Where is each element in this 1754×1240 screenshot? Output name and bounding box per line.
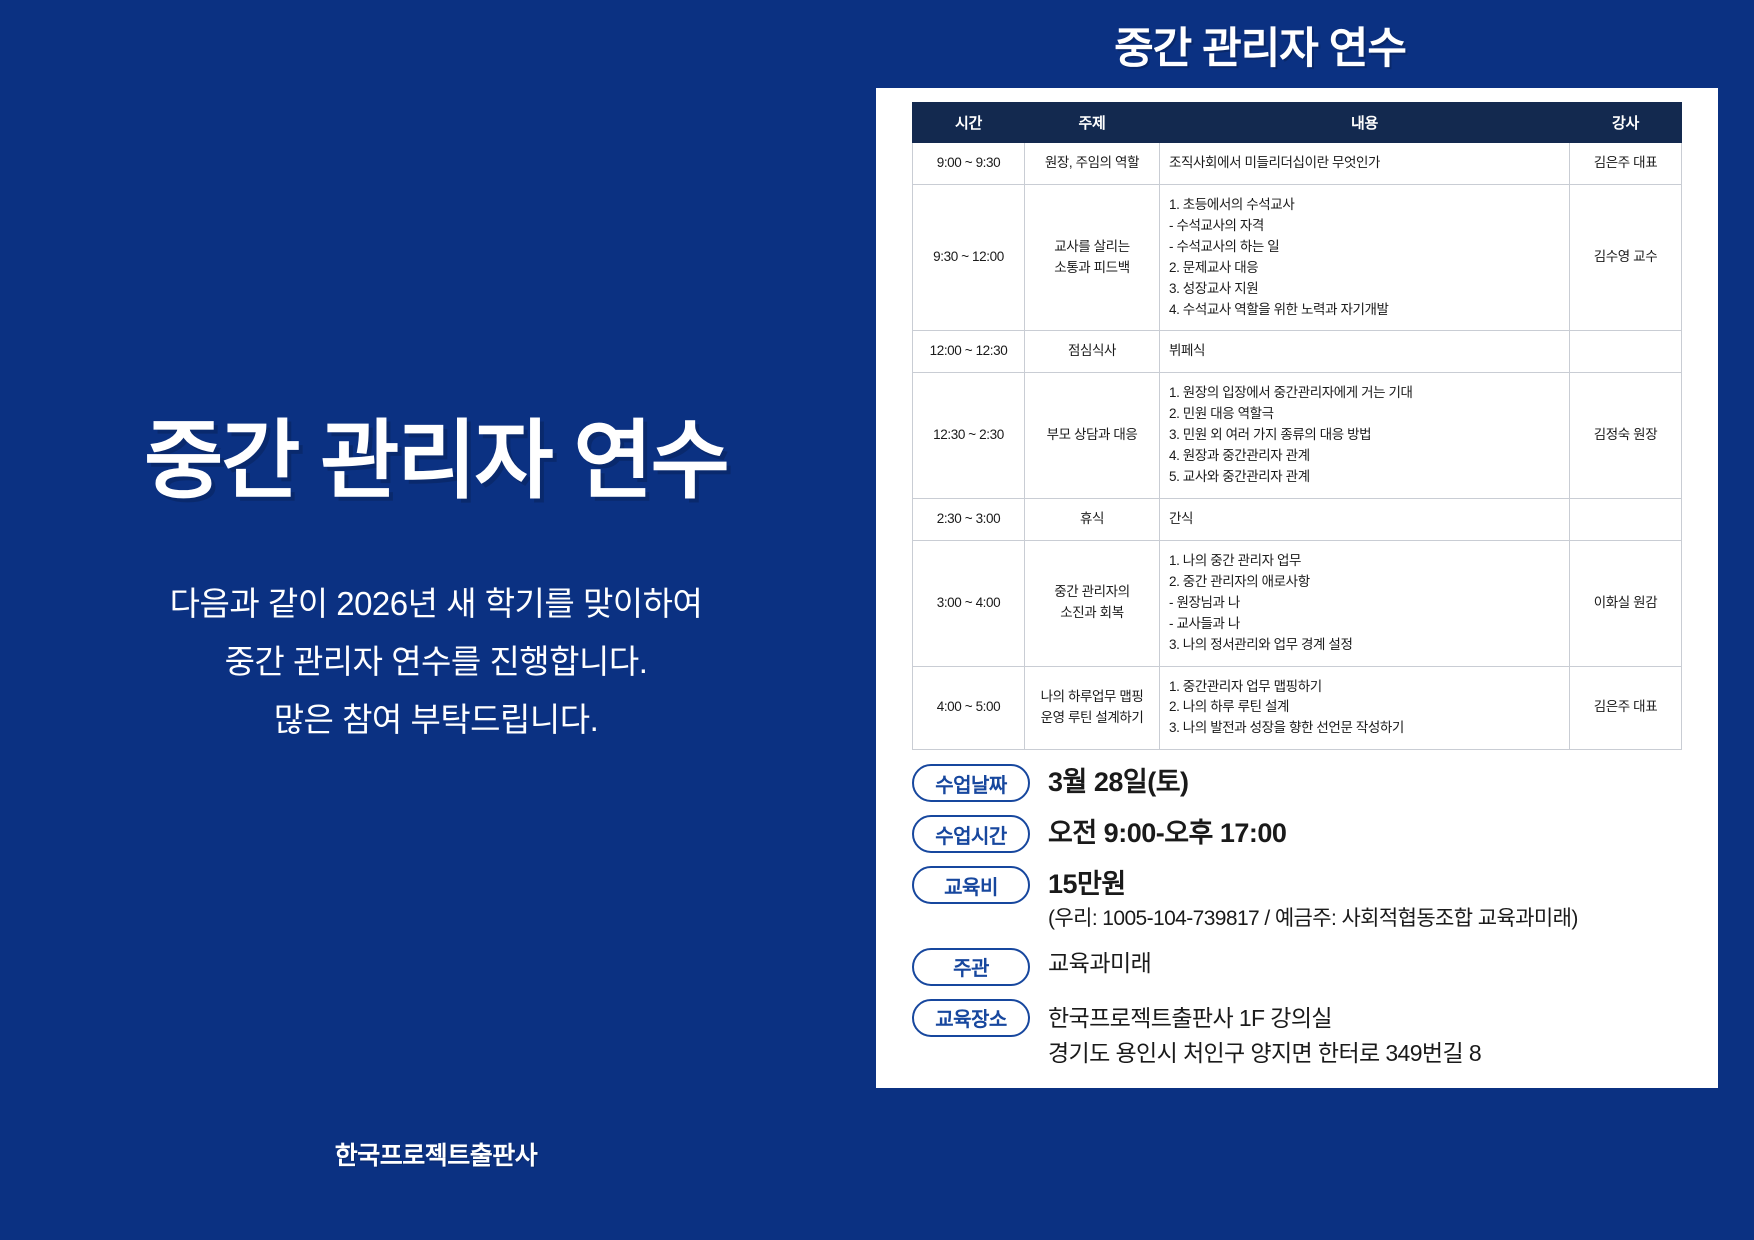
- cell-detail: 조직사회에서 미들리더십이란 무엇인가: [1160, 143, 1570, 185]
- main-title: 중간 관리자 연수: [0, 390, 872, 515]
- detail-line: 1. 원장의 입장에서 중간관리자에게 거는 기대: [1169, 383, 1560, 404]
- cell-time: 4:00 ~ 5:00: [913, 666, 1025, 750]
- detail-line: 1. 초등에서의 수석교사: [1169, 195, 1560, 216]
- cell-detail: 1. 초등에서의 수석교사 - 수석교사의 자격 - 수석교사의 하는 일2. …: [1160, 184, 1570, 331]
- cell-detail: 간식: [1160, 498, 1570, 540]
- detail-line: 2. 중간 관리자의 애로사항: [1169, 572, 1560, 593]
- cell-speaker: 이화실 원감: [1570, 540, 1682, 666]
- detail-line: - 교사들과 나: [1169, 614, 1560, 635]
- column-header-detail: 내용: [1160, 103, 1570, 143]
- cell-detail: 뷔페식: [1160, 331, 1570, 373]
- badge-place: 교육장소: [912, 999, 1030, 1037]
- cell-detail: 1. 원장의 입장에서 중간관리자에게 거는 기대2. 민원 대응 역할극3. …: [1160, 373, 1570, 499]
- cell-speaker: 김정숙 원장: [1570, 373, 1682, 499]
- topic-line: 소통과 피드백: [1034, 258, 1150, 279]
- publisher-logo-text: 한국프로젝트출판사: [0, 1136, 872, 1172]
- value-host: 교육과미래: [1048, 949, 1151, 979]
- column-header-time: 시간: [913, 103, 1025, 143]
- cell-speaker: 김은주 대표: [1570, 666, 1682, 750]
- cell-time: 9:00 ~ 9:30: [913, 143, 1025, 185]
- cell-time: 12:00 ~ 12:30: [913, 331, 1025, 373]
- detail-line: 2. 문제교사 대응: [1169, 258, 1560, 279]
- cell-speaker: 김수영 교수: [1570, 184, 1682, 331]
- detail-line: 3. 나의 정서관리와 업무 경계 설정: [1169, 635, 1560, 656]
- topic-line: 교사를 살리는: [1034, 237, 1150, 258]
- topic-line: 운영 루틴 설계하기: [1034, 708, 1150, 729]
- info-body-place: 한국프로젝트출판사 1F 강의실 경기도 용인시 처인구 양지면 한터로 349…: [1048, 999, 1481, 1071]
- cell-topic: 점심식사: [1025, 331, 1160, 373]
- detail-line: 4. 원장과 중간관리자 관계: [1169, 446, 1560, 467]
- value-time: 오전 9:00-오후 17:00: [1048, 816, 1286, 851]
- detail-line: 4. 수석교사 역할을 위한 노력과 자기개발: [1169, 300, 1560, 321]
- cell-topic: 부모 상담과 대응: [1025, 373, 1160, 499]
- detail-line: 1. 중간관리자 업무 맵핑하기: [1169, 677, 1560, 698]
- badge-time: 수업시간: [912, 815, 1030, 853]
- value-date: 3월 28일(토): [1048, 765, 1189, 800]
- cell-time: 9:30 ~ 12:00: [913, 184, 1025, 331]
- description-line-2: 중간 관리자 연수를 진행합니다.: [0, 633, 872, 691]
- value-place-address: 경기도 용인시 처인구 양지면 한터로 349번길 8: [1048, 1037, 1481, 1070]
- info-list: 수업날짜 3월 28일(토) 수업시간 오전 9:00-오후 17:00 교육비…: [912, 764, 1702, 1083]
- info-row-fee: 교육비 15만원 (우리: 1005-104-739817 / 예금주: 사회적…: [912, 866, 1702, 935]
- cell-time: 3:00 ~ 4:00: [913, 540, 1025, 666]
- detail-line: 3. 민원 외 여러 가지 종류의 대응 방법: [1169, 425, 1560, 446]
- topic-line: 중간 관리자의: [1034, 582, 1150, 603]
- column-header-topic: 주제: [1025, 103, 1160, 143]
- info-body-time: 오전 9:00-오후 17:00: [1048, 815, 1286, 851]
- table-row: 12:30 ~ 2:30부모 상담과 대응1. 원장의 입장에서 중간관리자에게…: [913, 373, 1682, 499]
- info-row-place: 교육장소 한국프로젝트출판사 1F 강의실 경기도 용인시 처인구 양지면 한터…: [912, 999, 1702, 1071]
- detail-line: - 원장님과 나: [1169, 593, 1560, 614]
- cell-topic: 교사를 살리는소통과 피드백: [1025, 184, 1160, 331]
- topic-line: 휴식: [1034, 509, 1150, 530]
- detail-line: 뷔페식: [1169, 341, 1560, 362]
- table-header-row: 시간 주제 내용 강사: [913, 103, 1682, 143]
- value-place: 한국프로젝트출판사 1F 강의실: [1048, 1002, 1481, 1035]
- table-row: 12:00 ~ 12:30점심식사뷔페식: [913, 331, 1682, 373]
- left-panel: 중간 관리자 연수 다음과 같이 2026년 새 학기를 맞이하여 중간 관리자…: [0, 0, 872, 1240]
- header-title: 중간 관리자 연수: [880, 14, 1640, 76]
- detail-line: 간식: [1169, 509, 1560, 530]
- badge-date: 수업날짜: [912, 764, 1030, 802]
- info-body-host: 교육과미래: [1048, 948, 1151, 979]
- detail-line: 조직사회에서 미들리더십이란 무엇인가: [1169, 153, 1560, 174]
- cell-speaker: 김은주 대표: [1570, 143, 1682, 185]
- cell-detail: 1. 중간관리자 업무 맵핑하기2. 나의 하루 루틴 설계3. 나의 발전과 …: [1160, 666, 1570, 750]
- badge-host: 주관: [912, 948, 1030, 986]
- cell-topic: 중간 관리자의소진과 회복: [1025, 540, 1160, 666]
- topic-line: 부모 상담과 대응: [1034, 425, 1150, 446]
- cell-speaker: [1570, 498, 1682, 540]
- detail-line: 2. 나의 하루 루틴 설계: [1169, 697, 1560, 718]
- info-row-date: 수업날짜 3월 28일(토): [912, 764, 1702, 802]
- table-row: 2:30 ~ 3:00휴식간식: [913, 498, 1682, 540]
- detail-line: 1. 나의 중간 관리자 업무: [1169, 551, 1560, 572]
- info-body-date: 3월 28일(토): [1048, 764, 1189, 800]
- description-line-3: 많은 참여 부탁드립니다.: [0, 691, 872, 749]
- cell-topic: 원장, 주임의 역할: [1025, 143, 1160, 185]
- description-block: 다음과 같이 2026년 새 학기를 맞이하여 중간 관리자 연수를 진행합니다…: [0, 575, 872, 748]
- table-row: 9:30 ~ 12:00교사를 살리는소통과 피드백1. 초등에서의 수석교사 …: [913, 184, 1682, 331]
- detail-line: 5. 교사와 중간관리자 관계: [1169, 467, 1560, 488]
- detail-line: 2. 민원 대응 역할극: [1169, 404, 1560, 425]
- topic-line: 나의 하루업무 맵핑: [1034, 687, 1150, 708]
- cell-detail: 1. 나의 중간 관리자 업무2. 중간 관리자의 애로사항 - 원장님과 나 …: [1160, 540, 1570, 666]
- info-row-time: 수업시간 오전 9:00-오후 17:00: [912, 815, 1702, 853]
- content-card: 시간 주제 내용 강사 9:00 ~ 9:30원장, 주임의 역할조직사회에서 …: [876, 88, 1718, 1088]
- value-fee: 15만원: [1048, 867, 1578, 902]
- cell-speaker: [1570, 331, 1682, 373]
- topic-line: 소진과 회복: [1034, 603, 1150, 624]
- topic-line: 원장, 주임의 역할: [1034, 153, 1150, 174]
- detail-line: 3. 나의 발전과 성장을 향한 선언문 작성하기: [1169, 718, 1560, 739]
- detail-line: 3. 성장교사 지원: [1169, 279, 1560, 300]
- detail-line: - 수석교사의 하는 일: [1169, 237, 1560, 258]
- table-row: 4:00 ~ 5:00나의 하루업무 맵핑운영 루틴 설계하기1. 중간관리자 …: [913, 666, 1682, 750]
- topic-line: 점심식사: [1034, 341, 1150, 362]
- table-row: 3:00 ~ 4:00중간 관리자의소진과 회복1. 나의 중간 관리자 업무2…: [913, 540, 1682, 666]
- cell-topic: 나의 하루업무 맵핑운영 루틴 설계하기: [1025, 666, 1160, 750]
- table-row: 9:00 ~ 9:30원장, 주임의 역할조직사회에서 미들리더십이란 무엇인가…: [913, 143, 1682, 185]
- cell-topic: 휴식: [1025, 498, 1160, 540]
- cell-time: 2:30 ~ 3:00: [913, 498, 1025, 540]
- detail-line: - 수석교사의 자격: [1169, 216, 1560, 237]
- info-row-host: 주관 교육과미래: [912, 948, 1702, 986]
- cell-time: 12:30 ~ 2:30: [913, 373, 1025, 499]
- value-fee-account: (우리: 1005-104-739817 / 예금주: 사회적협동조합 교육과미…: [1048, 904, 1578, 934]
- poster-root: 중간 관리자 연수 중간 관리자 연수 다음과 같이 2026년 새 학기를 맞…: [0, 0, 1754, 1240]
- description-line-1: 다음과 같이 2026년 새 학기를 맞이하여: [0, 575, 872, 633]
- badge-fee: 교육비: [912, 866, 1030, 904]
- schedule-table: 시간 주제 내용 강사 9:00 ~ 9:30원장, 주임의 역할조직사회에서 …: [912, 102, 1682, 750]
- info-body-fee: 15만원 (우리: 1005-104-739817 / 예금주: 사회적협동조합…: [1048, 866, 1578, 935]
- column-header-speaker: 강사: [1570, 103, 1682, 143]
